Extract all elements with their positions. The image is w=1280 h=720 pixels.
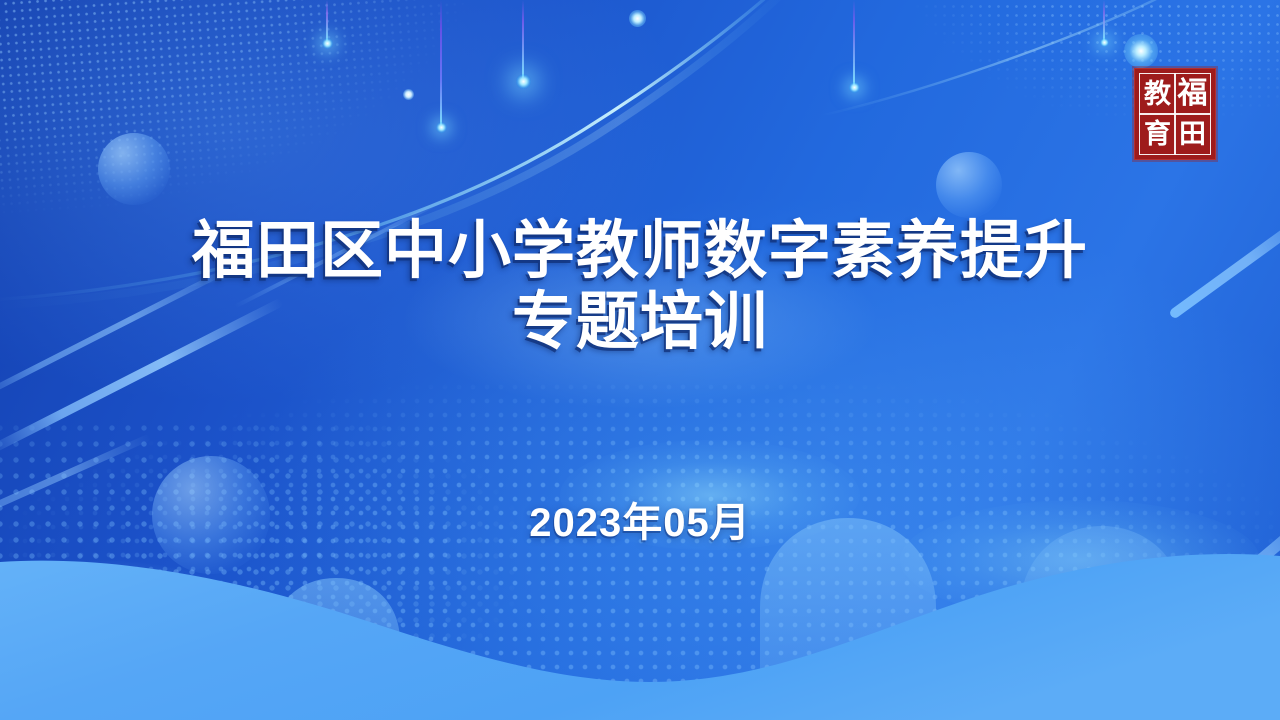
seal-character-tian: 田 — [1174, 113, 1211, 155]
futian-education-seal-logo: 教 福 育 田 — [1134, 68, 1216, 160]
soft-sphere-top-right — [936, 152, 1002, 218]
seal-character-fu: 福 — [1174, 73, 1211, 115]
slide-date: 2023年05月 — [0, 490, 1280, 548]
presentation-title-slide: 教 福 育 田 福田区中小学教师数字素养提升 专题培训 2023年05月 — [0, 0, 1280, 720]
seal-character-jiao: 教 — [1139, 73, 1176, 115]
slide-title-line-2: 专题培训 — [0, 287, 1280, 358]
slide-title: 福田区中小学教师数字素养提升 专题培训 — [0, 216, 1280, 357]
meteor-streak-5 — [1103, 0, 1105, 42]
wave-main-shape — [0, 554, 1280, 720]
seal-character-yu: 育 — [1139, 113, 1176, 155]
soft-sphere-top-left — [98, 133, 170, 205]
meteor-streak-1 — [326, 0, 328, 44]
meteor-streak-4 — [853, 0, 855, 88]
meteor-streak-2 — [440, 0, 442, 128]
meteor-streak-3 — [522, 0, 524, 82]
slide-title-line-1: 福田区中小学教师数字素养提升 — [0, 216, 1280, 287]
